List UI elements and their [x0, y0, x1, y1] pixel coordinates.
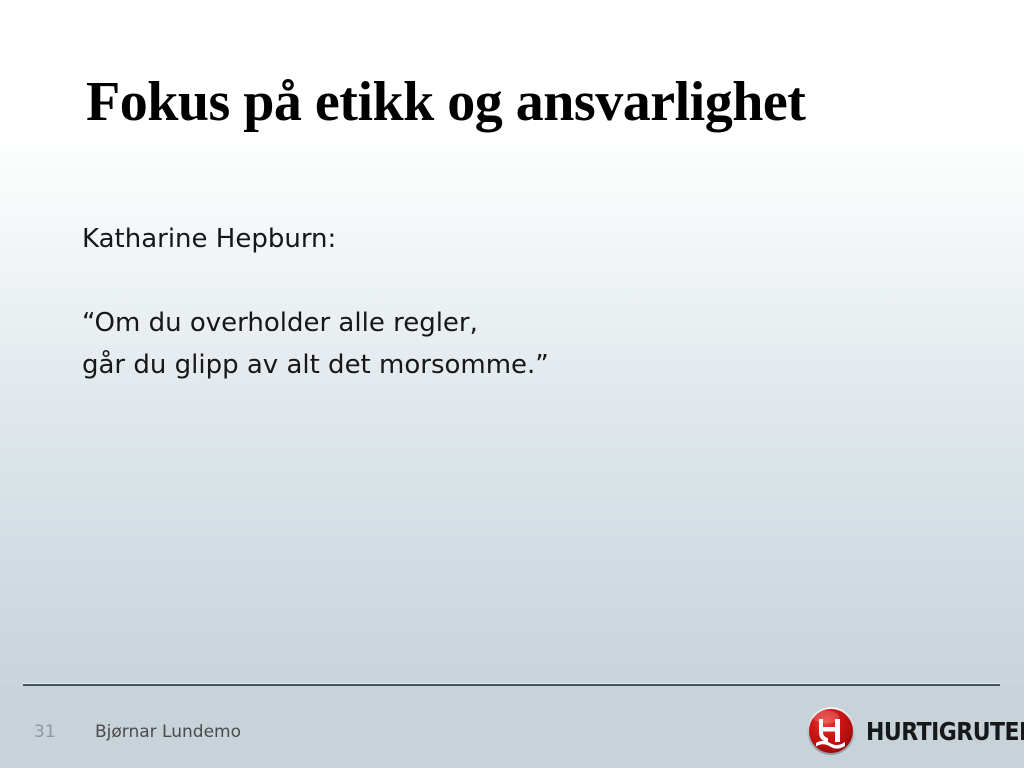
quote-line-1: “Om du overholder alle regler, [82, 302, 782, 344]
hurtigruten-sphere-icon [806, 706, 856, 756]
presenter-name: Bjørnar Lundemo [95, 722, 241, 742]
quote-block: “Om du overholder alle regler, går du gl… [82, 256, 782, 386]
quote-line-2: går du glipp av alt det morsomme.” [82, 344, 782, 386]
slide-content: Katharine Hepburn: “Om du overholder all… [82, 222, 782, 386]
slide-number: 31 [34, 722, 56, 742]
quote-attribution: Katharine Hepburn: [82, 222, 782, 256]
presentation-slide: Fokus på etikk og ansvarlighet Katharine… [0, 0, 1024, 768]
hurtigruten-wordmark: HURTIGRUTEN [866, 719, 1024, 744]
page-title: Fokus på etikk og ansvarlighet [86, 72, 946, 132]
hurtigruten-logo: HURTIGRUTEN [806, 704, 1010, 758]
footer-divider [23, 684, 1000, 686]
